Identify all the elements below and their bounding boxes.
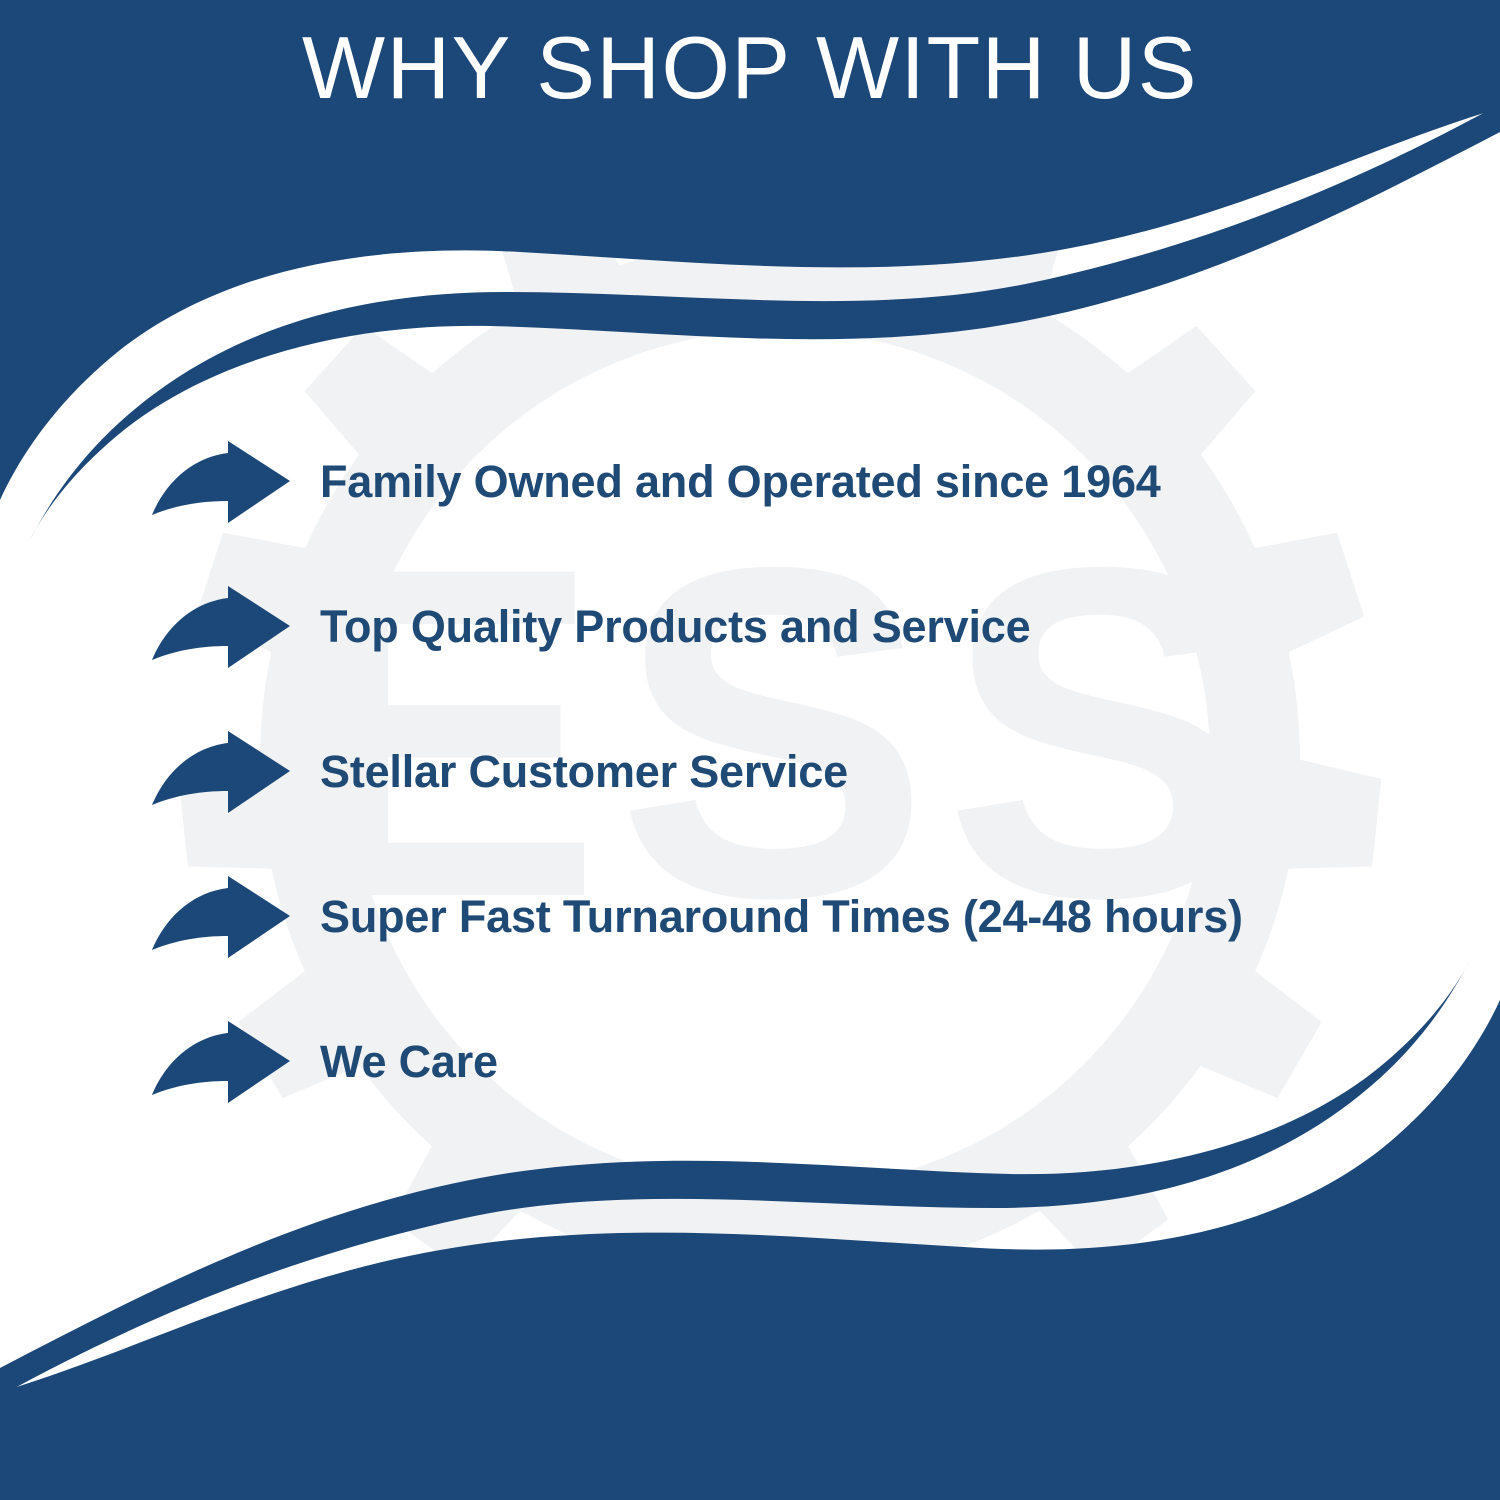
- list-item: Stellar Customer Service: [150, 722, 1400, 822]
- list-item: Super Fast Turnaround Times (24-48 hours…: [150, 867, 1400, 967]
- curved-arrow-right-icon: [150, 874, 298, 960]
- benefits-list: Family Owned and Operated since 1964 Top…: [150, 432, 1400, 1112]
- benefit-label: We Care: [320, 1037, 498, 1087]
- benefit-label: Top Quality Products and Service: [320, 602, 1030, 652]
- page-title: WHY SHOP WITH US: [302, 24, 1198, 112]
- benefit-label: Super Fast Turnaround Times (24-48 hours…: [320, 892, 1243, 942]
- list-item: Top Quality Products and Service: [150, 577, 1400, 677]
- list-item: Family Owned and Operated since 1964: [150, 432, 1400, 532]
- benefit-label: Family Owned and Operated since 1964: [320, 457, 1161, 507]
- list-item: We Care: [150, 1012, 1400, 1112]
- curved-arrow-right-icon: [150, 729, 298, 815]
- curved-arrow-right-icon: [150, 439, 298, 525]
- benefit-label: Stellar Customer Service: [320, 747, 848, 797]
- promotional-poster: ESS WHY SHOP WITH US Family Owned and Op…: [0, 0, 1500, 1500]
- curved-arrow-right-icon: [150, 584, 298, 670]
- title-banner: WHY SHOP WITH US: [0, 0, 1500, 135]
- curved-arrow-right-icon: [150, 1019, 298, 1105]
